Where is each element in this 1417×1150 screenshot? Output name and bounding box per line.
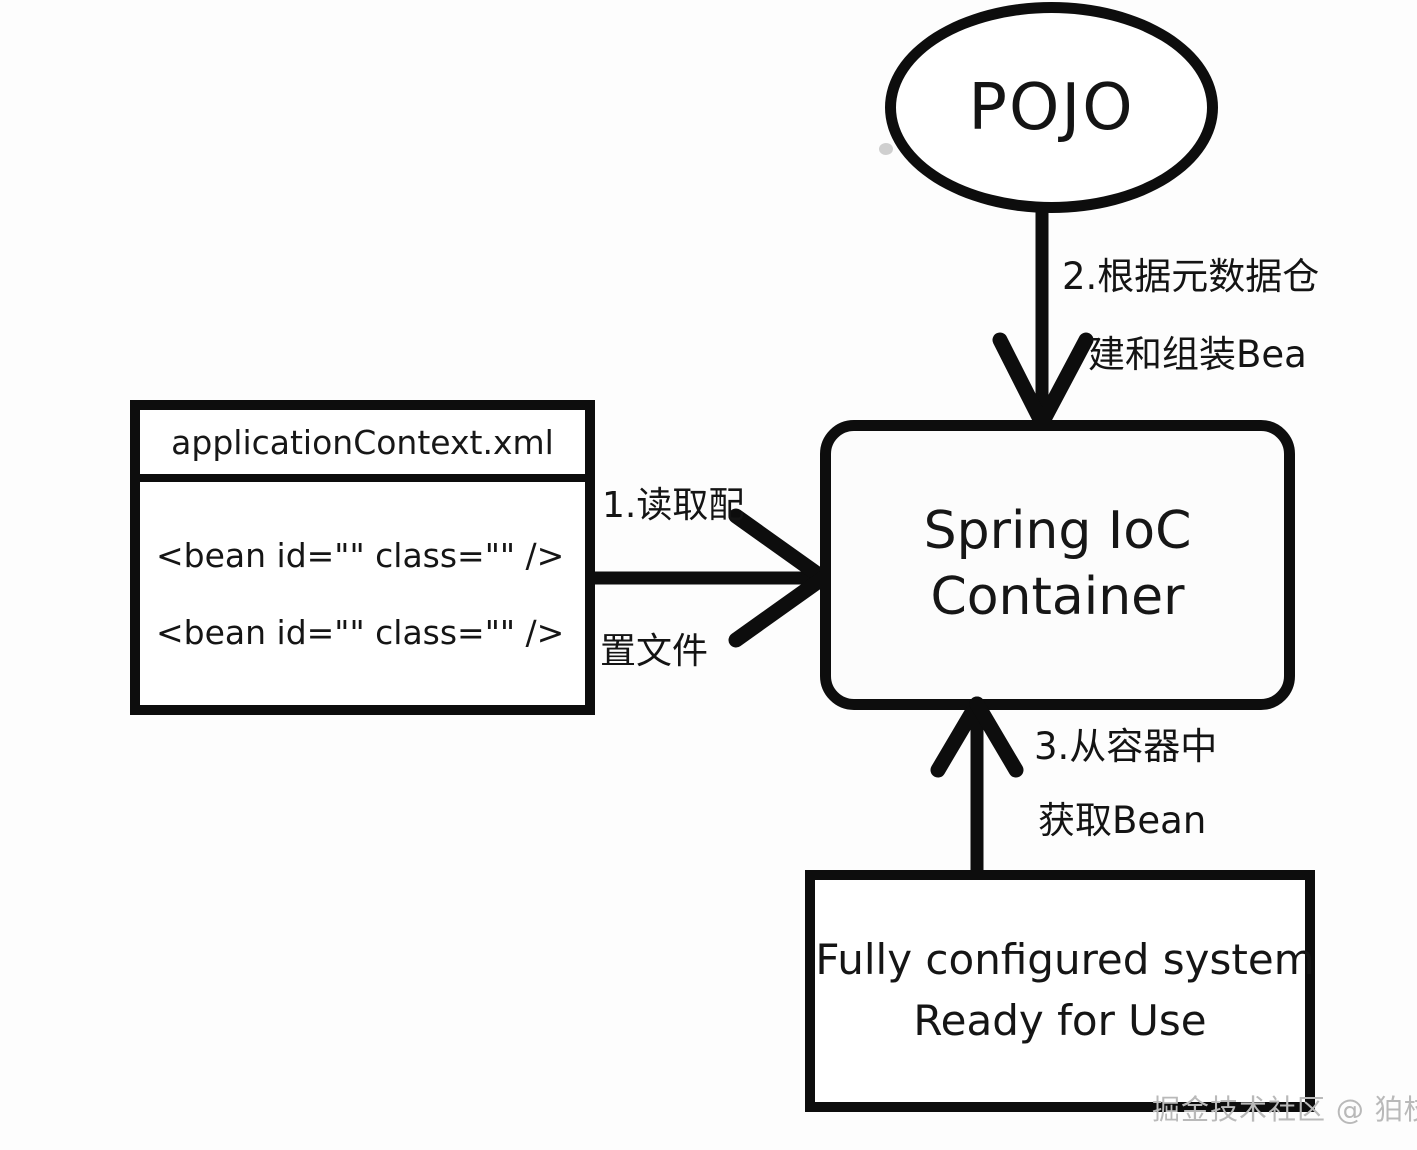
pojo-node[interactable]: POJO [885,2,1218,213]
edge-label-build-beans-line2: 建和组装Bea [1088,336,1307,373]
pojo-label: POJO [968,71,1134,145]
bean-definition-line: <bean id="" class="" /> [156,536,585,575]
ioc-container-node[interactable]: Spring IoC Container [820,420,1295,710]
bean-list-spacer [156,589,585,599]
diagram-canvas: POJO applicationContext.xml <bean id="" … [0,0,1417,1150]
ioc-container-label-line1: Spring IoC [924,499,1192,565]
edge-label-read-config-line1: 1.读取配 [602,488,744,524]
bean-definition-line: <bean id="" class="" /> [156,613,585,652]
edge-label-build-beans-line1: 2.根据元数据仓 [1062,258,1319,295]
config-file-header: applicationContext.xml [140,410,585,482]
arrow-ready-to-container [930,700,1050,880]
edge-label-get-bean-line2: 获取Bean [1038,802,1206,839]
ready-system-label-line1: Fully configured system [815,930,1314,991]
config-file-node[interactable]: applicationContext.xml <bean id="" class… [130,400,595,715]
ready-system-label-line2: Ready for Use [913,991,1206,1052]
arrow-pojo-to-container [990,205,1110,430]
edge-label-read-config-line2: 置文件 [600,634,708,670]
ready-system-node[interactable]: Fully configured system Ready for Use [805,870,1315,1112]
config-file-body: <bean id="" class="" /> <bean id="" clas… [140,482,585,705]
edge-label-get-bean-line1: 3.从容器中 [1034,728,1217,765]
ioc-container-label-line2: Container [930,565,1184,631]
watermark: 掘金技术社区 @ 狛枝 [1152,1088,1417,1128]
speck-artifact [879,143,893,155]
config-file-header-label: applicationContext.xml [171,423,554,462]
